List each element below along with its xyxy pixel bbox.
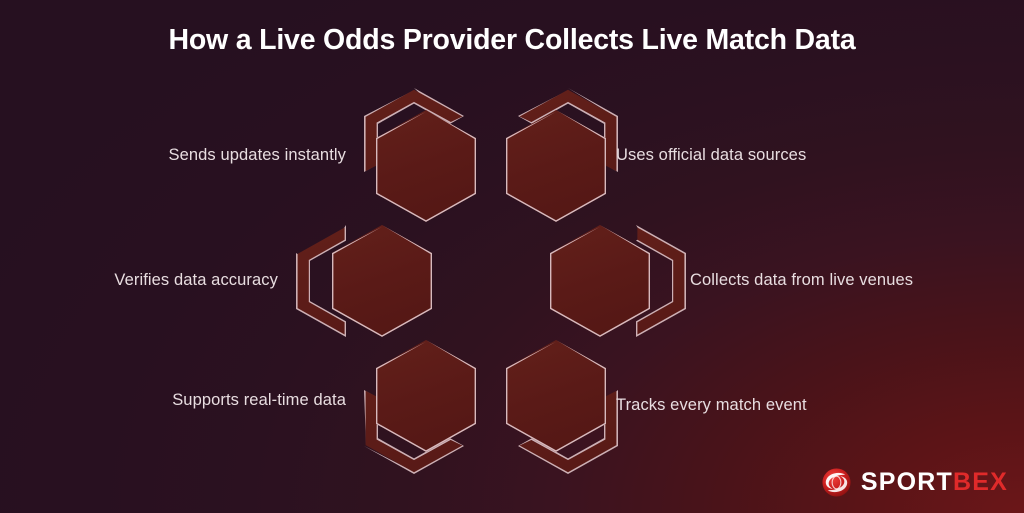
- node-uses-official-data-sources[interactable]: [506, 110, 606, 222]
- logo-text-sport: SPORT: [861, 470, 953, 495]
- node-collects-data-from-live-venues[interactable]: [550, 225, 650, 337]
- infographic-canvas: How a Live Odds Provider Collects Live M…: [0, 0, 1024, 513]
- node-verifies-data-accuracy[interactable]: [332, 225, 432, 337]
- logo-text-bex: BEX: [953, 470, 1008, 495]
- sportbex-logo[interactable]: SPORTBEX: [821, 465, 1008, 499]
- node-sends-updates-instantly[interactable]: [376, 110, 476, 222]
- label-verifies-data-accuracy: Verifies data accuracy: [0, 271, 288, 290]
- sportbex-wordmark: SPORTBEX: [861, 470, 1008, 495]
- label-supports-real-time-data: Supports real-time data: [0, 391, 356, 410]
- label-collects-data-from-live-venues: Collects data from live venues: [690, 271, 913, 290]
- label-uses-official-data-sources: Uses official data sources: [616, 146, 806, 165]
- node-supports-real-time-data[interactable]: [376, 340, 476, 452]
- label-sends-updates-instantly: Sends updates instantly: [0, 146, 356, 165]
- label-tracks-every-match-event: Tracks every match event: [616, 396, 807, 415]
- sportbex-globe-swoosh-icon: [821, 467, 852, 498]
- hexagon-diagram: Sends updates instantly Uses official da…: [0, 0, 1024, 513]
- node-tracks-every-match-event[interactable]: [506, 340, 606, 452]
